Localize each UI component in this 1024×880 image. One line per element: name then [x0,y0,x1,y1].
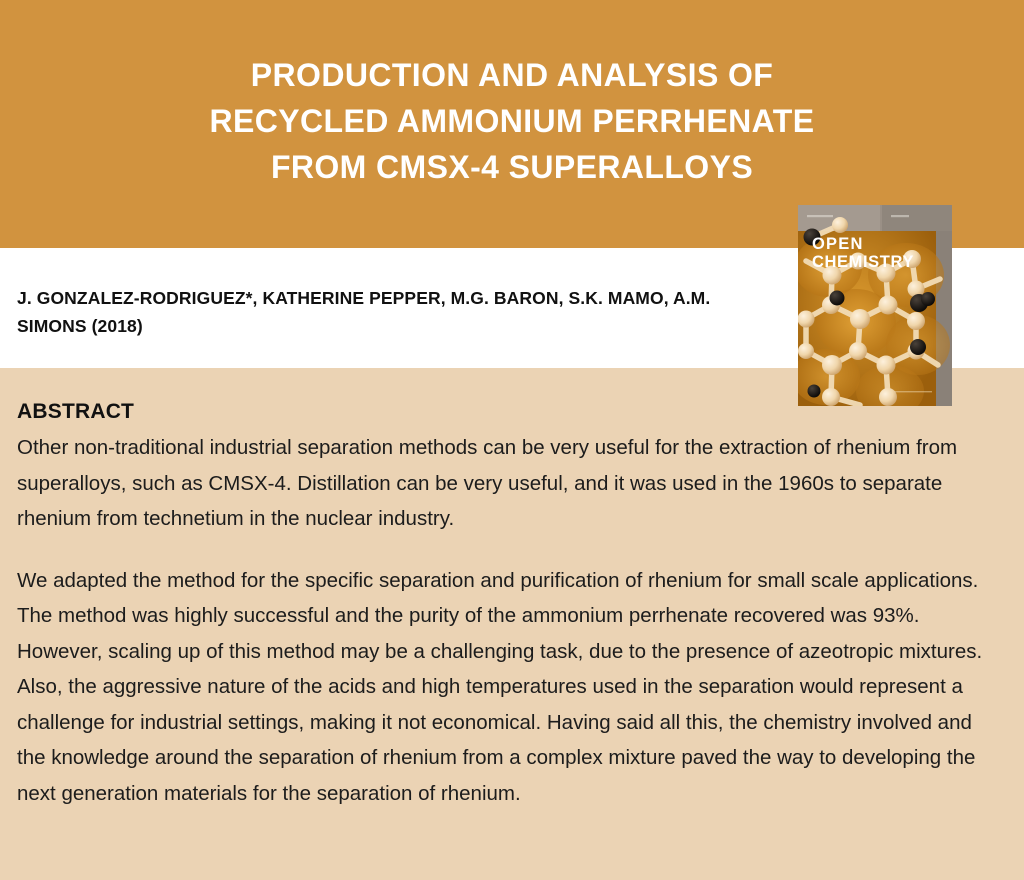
abstract-paragraph-1: Other non-traditional industrial separat… [17,430,1002,537]
journal-cover-thumbnail[interactable]: OPEN CHEMISTRY [798,205,952,406]
title-line-1: PRODUCTION AND ANALYSIS OF [0,52,1024,98]
page-title: PRODUCTION AND ANALYSIS OF RECYCLED AMMO… [0,52,1024,190]
cover-title-line-2: CHEMISTRY [812,253,914,271]
abstract-heading: ABSTRACT [17,400,134,424]
article-abstract-card: PRODUCTION AND ANALYSIS OF RECYCLED AMMO… [0,0,1024,880]
abstract-panel: ABSTRACT Other non-traditional industria… [0,368,1024,880]
authors-line: J. GONZALEZ-RODRIGUEZ*, KATHERINE PEPPER… [17,284,717,340]
cover-title-line-1: OPEN [812,235,864,253]
title-line-2: RECYCLED AMMONIUM PERRHENATE [0,98,1024,144]
abstract-paragraph-2: We adapted the method for the specific s… [17,563,1002,812]
title-line-3: FROM CMSX-4 SUPERALLOYS [0,144,1024,190]
abstract-body: Other non-traditional industrial separat… [17,430,1002,811]
journal-cover-artwork: OPEN CHEMISTRY [798,205,952,406]
